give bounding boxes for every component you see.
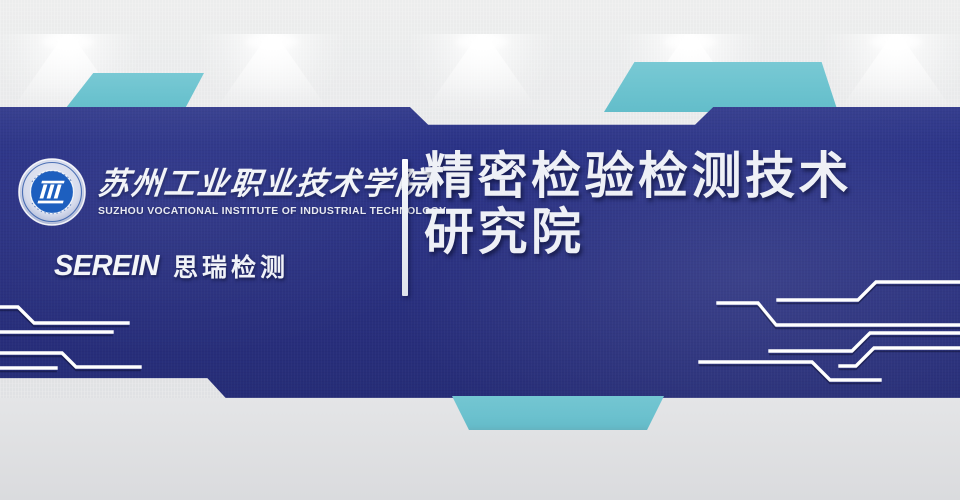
- university-names: 苏州工业职业技术学院 SUZHOU VOCATIONAL INSTITUTE O…: [98, 167, 428, 217]
- vertical-divider-bar: [402, 159, 408, 296]
- institute-headline: 精密检验检测技术 研究院: [424, 148, 944, 260]
- board-content: 苏州工业职业技术学院 SUZHOU VOCATIONAL INSTITUTE O…: [0, 104, 960, 400]
- teal-slab-bottom: [452, 396, 664, 430]
- headline-line-1: 精密检验检测技术: [424, 148, 944, 204]
- brand-column: 苏州工业职业技术学院 SUZHOU VOCATIONAL INSTITUTE O…: [16, 156, 394, 284]
- university-lockup: 苏州工业职业技术学院 SUZHOU VOCATIONAL INSTITUTE O…: [16, 156, 394, 228]
- university-name-cn: 苏州工业职业技术学院: [96, 167, 430, 202]
- headline-line-2: 研究院: [424, 204, 944, 260]
- partner-logo-latin: SEREIN: [54, 250, 159, 283]
- university-name-en: SUZHOU VOCATIONAL INSTITUTE OF INDUSTRIA…: [98, 206, 400, 217]
- partner-lockup: SEREIN 思瑞检测: [54, 248, 394, 284]
- suzhou-institute-emblem-icon: [16, 156, 88, 228]
- partner-logo-cn: 思瑞检测: [173, 248, 289, 284]
- signage-scene: 苏州工业职业技术学院 SUZHOU VOCATIONAL INSTITUTE O…: [0, 0, 960, 500]
